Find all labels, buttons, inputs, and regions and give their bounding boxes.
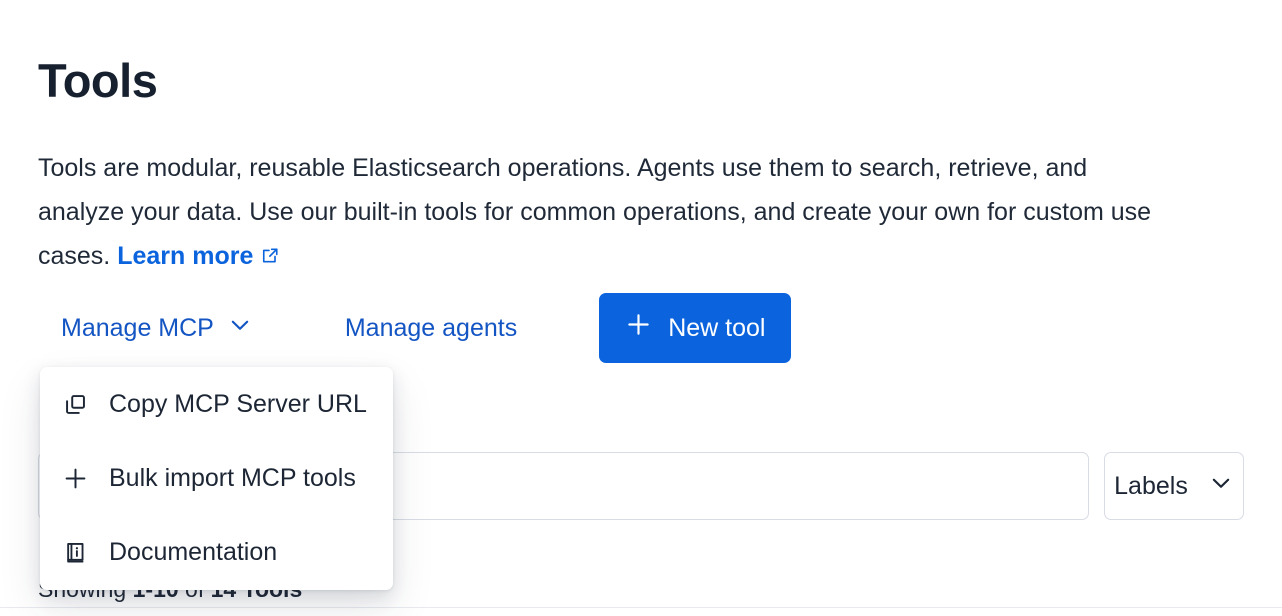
menu-item-label: Copy MCP Server URL [109,390,367,419]
new-tool-button[interactable]: New tool [599,293,791,363]
page-title: Tools [38,53,157,109]
manage-mcp-label: Manage MCP [61,313,214,343]
new-tool-label: New tool [668,314,765,343]
plus-icon [62,465,88,491]
chevron-down-icon [227,312,253,345]
learn-more-link[interactable]: Learn more [117,242,280,270]
copy-icon [62,391,88,417]
manage-agents-button[interactable]: Manage agents [345,313,517,343]
manage-agents-label: Manage agents [345,313,517,343]
menu-item-documentation[interactable]: Documentation [40,515,393,589]
menu-item-label: Bulk import MCP tools [109,464,356,493]
labels-filter-label: Labels [1114,472,1188,501]
manage-mcp-dropdown-menu: Copy MCP Server URL Bulk import MCP tool… [40,367,393,590]
documentation-icon [62,539,88,565]
labels-filter-button[interactable]: Labels [1104,452,1244,520]
learn-more-label: Learn more [117,242,253,270]
action-bar: Manage MCP Manage agents New tool [38,294,791,362]
menu-item-copy-mcp-server-url[interactable]: Copy MCP Server URL [40,367,393,441]
tools-page: Tools Tools are modular, reusable Elasti… [0,0,1282,616]
chevron-down-icon [1208,470,1234,503]
manage-mcp-button[interactable]: Manage MCP [61,312,253,345]
menu-item-label: Documentation [109,538,277,567]
menu-item-bulk-import-mcp-tools[interactable]: Bulk import MCP tools [40,441,393,515]
page-description: Tools are modular, reusable Elasticsearc… [38,146,1168,280]
bottom-divider [0,607,1282,608]
plus-icon [625,311,652,345]
external-link-icon [260,236,280,280]
